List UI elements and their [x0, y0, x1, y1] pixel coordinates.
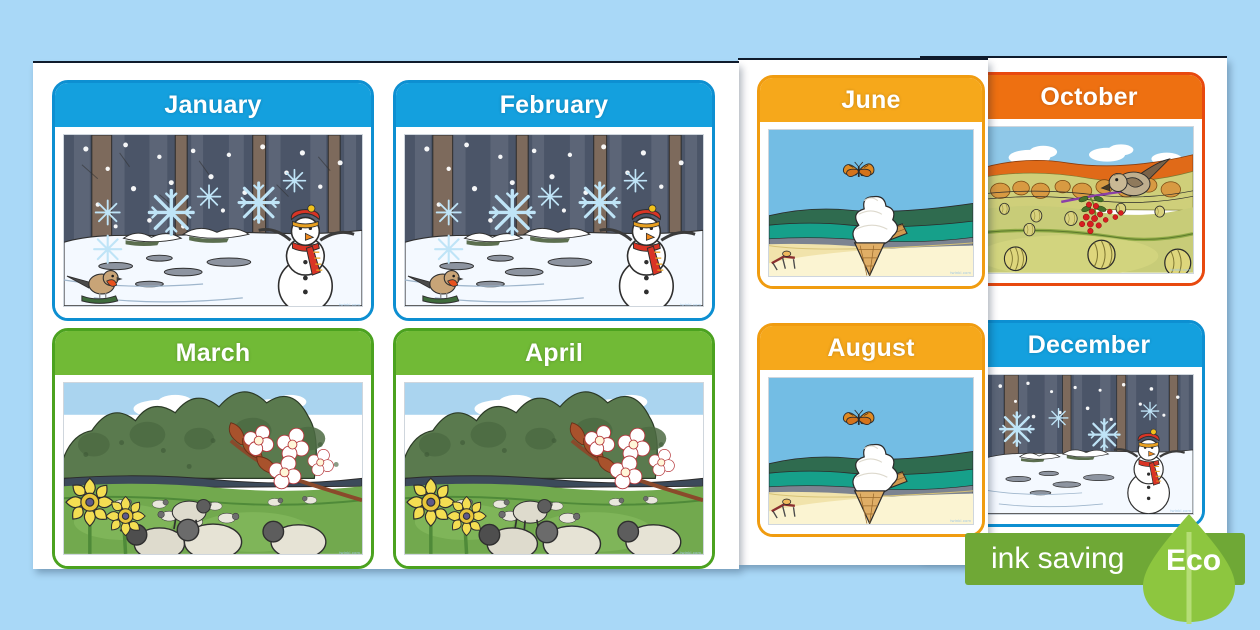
- illustration-autumn-farmland: [984, 126, 1194, 274]
- card-header-june: June: [760, 78, 982, 122]
- month-card-october[interactable]: October: [973, 72, 1205, 286]
- card-body-april: twinkl.com: [396, 375, 712, 566]
- month-card-february[interactable]: February: [393, 80, 715, 321]
- month-card-january[interactable]: January: [52, 80, 374, 321]
- watermark: twinkl.com: [339, 302, 360, 307]
- card-header-october: October: [976, 75, 1202, 119]
- illustration-summer-beach: [768, 377, 974, 525]
- card-body-february: twinkl.com: [396, 127, 712, 318]
- ink-saving-eco-badge: ink saving Eco: [965, 533, 1245, 597]
- month-title: January: [164, 91, 261, 120]
- illustration-spring-meadow: [63, 382, 363, 555]
- eco-badge-word: Eco: [1166, 544, 1221, 578]
- month-title: March: [176, 339, 251, 368]
- card-body-october: twinkl.com: [976, 119, 1202, 283]
- watermark: twinkl.com: [680, 302, 701, 307]
- illustration-winter-forest-snowman: [63, 134, 363, 307]
- month-title: August: [827, 334, 914, 363]
- middle-sheet[interactable]: June: [738, 60, 988, 565]
- watermark: twinkl.com: [1170, 267, 1191, 272]
- month-card-june[interactable]: June: [757, 75, 985, 289]
- card-header-april: April: [396, 331, 712, 375]
- card-body-august: twinkl.com: [760, 370, 982, 534]
- front-sheet[interactable]: January: [33, 63, 739, 569]
- eco-badge-label: ink saving: [991, 542, 1124, 576]
- card-body-january: twinkl.com: [55, 127, 371, 318]
- month-card-april[interactable]: April: [393, 328, 715, 569]
- month-title: February: [500, 91, 609, 120]
- card-header-january: January: [55, 83, 371, 127]
- illustration-summer-beach: [768, 129, 974, 277]
- card-body-march: twinkl.com: [55, 375, 371, 566]
- watermark: twinkl.com: [680, 550, 701, 555]
- month-title: April: [525, 339, 583, 368]
- card-header-august: August: [760, 326, 982, 370]
- month-title: October: [1040, 83, 1137, 112]
- illustration-spring-meadow: [404, 382, 704, 555]
- card-header-february: February: [396, 83, 712, 127]
- watermark: twinkl.com: [950, 518, 971, 523]
- card-header-march: March: [55, 331, 371, 375]
- card-body-june: twinkl.com: [760, 122, 982, 286]
- card-header-december: December: [976, 323, 1202, 367]
- watermark: twinkl.com: [339, 550, 360, 555]
- month-title: June: [841, 86, 900, 115]
- illustration-winter-forest-snowman: [984, 374, 1194, 515]
- month-card-march[interactable]: March: [52, 328, 374, 569]
- month-card-december[interactable]: December: [973, 320, 1205, 527]
- watermark: twinkl.com: [950, 270, 971, 275]
- month-title: December: [1028, 331, 1151, 360]
- illustration-winter-forest-snowman: [404, 134, 704, 307]
- month-card-august[interactable]: August: [757, 323, 985, 537]
- card-body-december: twinkl.com: [976, 367, 1202, 524]
